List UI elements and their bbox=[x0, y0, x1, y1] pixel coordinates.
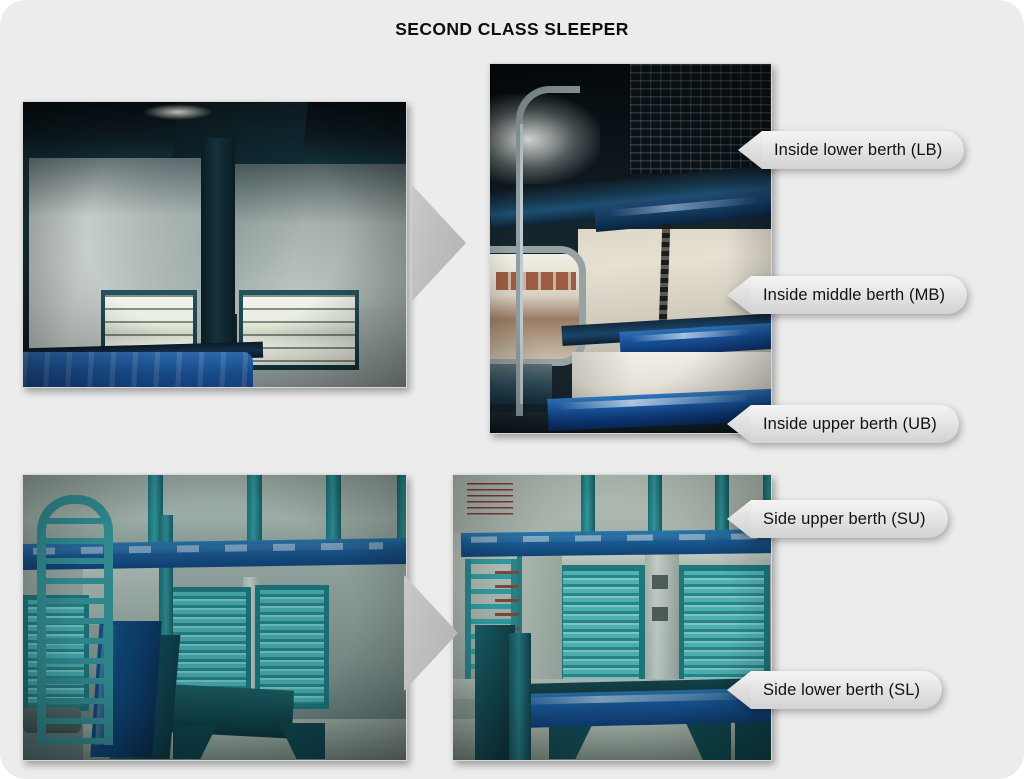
callout-label: Inside lower berth (LB) bbox=[774, 141, 942, 160]
photo-inside-berths-detail bbox=[489, 63, 772, 434]
callout-body: Side lower berth (SL) bbox=[751, 671, 942, 709]
second-class-sleeper-figure: SECOND CLASS SLEEPER bbox=[0, 0, 1024, 779]
callout-pointer-icon bbox=[727, 276, 751, 314]
photo-content bbox=[453, 475, 771, 760]
photo-content bbox=[23, 475, 406, 760]
arrow-right-icon-top bbox=[412, 185, 466, 301]
callout-pointer-icon bbox=[727, 500, 751, 538]
callout-inside-upper-berth: Inside upper berth (UB) bbox=[727, 405, 959, 443]
callout-inside-middle-berth: Inside middle berth (MB) bbox=[727, 276, 967, 314]
callout-label: Inside upper berth (UB) bbox=[763, 415, 937, 434]
callout-body: Inside middle berth (MB) bbox=[751, 276, 967, 314]
callout-side-upper-berth: Side upper berth (SU) bbox=[727, 500, 948, 538]
photo-side-berths-wide bbox=[22, 474, 407, 761]
callout-body: Inside lower berth (LB) bbox=[762, 131, 964, 169]
callout-pointer-icon bbox=[738, 131, 762, 169]
callout-label: Side upper berth (SU) bbox=[763, 510, 926, 529]
photo-content bbox=[23, 102, 406, 387]
callout-side-lower-berth: Side lower berth (SL) bbox=[727, 671, 942, 709]
callout-inside-lower-berth: Inside lower berth (LB) bbox=[738, 131, 964, 169]
photo-side-berths-detail bbox=[452, 474, 772, 761]
photo-inside-compartment-wide bbox=[22, 101, 407, 388]
arrow-right-icon-bottom bbox=[404, 575, 458, 691]
callout-label: Inside middle berth (MB) bbox=[763, 286, 945, 305]
page-title: SECOND CLASS SLEEPER bbox=[0, 19, 1024, 40]
callout-pointer-icon bbox=[727, 671, 751, 709]
callout-pointer-icon bbox=[727, 405, 751, 443]
callout-body: Inside upper berth (UB) bbox=[751, 405, 959, 443]
callout-body: Side upper berth (SU) bbox=[751, 500, 948, 538]
photo-content bbox=[490, 64, 771, 433]
callout-label: Side lower berth (SL) bbox=[763, 681, 920, 700]
